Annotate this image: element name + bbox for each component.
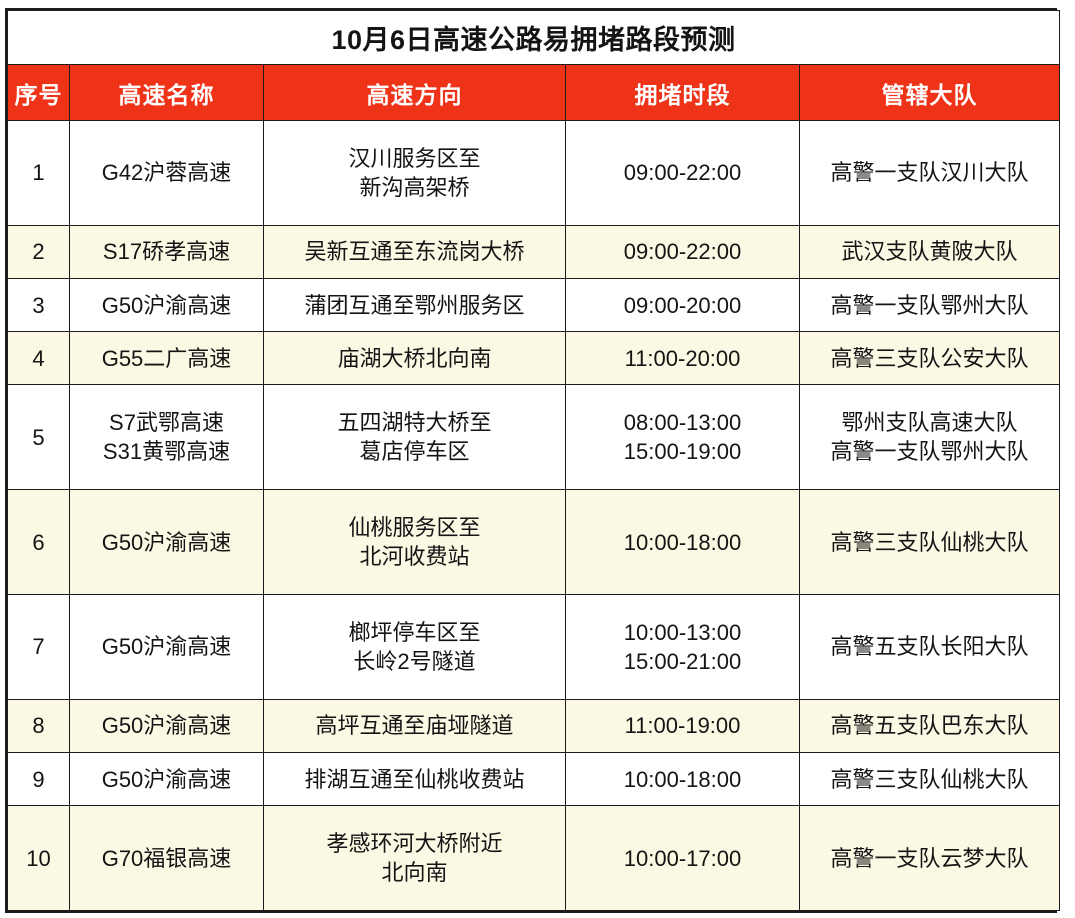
cell-index: 9 (8, 752, 70, 805)
cell-direction-lines: 仙桃服务区至北河收费站 (266, 513, 563, 571)
cell-congestion-period: 10:00-18:00 (566, 490, 800, 595)
cell-congestion-period-lines: 09:00-22:00 (568, 237, 797, 266)
cell-jurisdiction: 高警三支队公安大队 (800, 332, 1060, 385)
cell-congestion-period: 10:00-18:00 (566, 752, 800, 805)
cell-jurisdiction: 高警一支队汉川大队 (800, 121, 1060, 226)
cell-direction-lines: 五四湖特大桥至葛店停车区 (266, 408, 563, 466)
cell-highway-name-lines: S17硚孝高速 (72, 237, 261, 266)
cell-congestion-period-lines: 10:00-13:0015:00-21:00 (568, 618, 797, 676)
cell-highway-name-line: G50沪渝高速 (72, 765, 261, 794)
cell-jurisdiction-lines: 高警三支队仙桃大队 (802, 528, 1057, 557)
table-row: 1G42沪蓉高速汉川服务区至新沟高架桥09:00-22:00高警一支队汉川大队 (8, 121, 1060, 226)
table-header-row: 序号 高速名称 高速方向 拥堵时段 管辖大队 (8, 65, 1060, 121)
column-header-highway-name: 高速名称 (70, 65, 264, 121)
cell-index: 6 (8, 490, 70, 595)
cell-congestion-period-line: 10:00-17:00 (568, 844, 797, 873)
cell-highway-name: G55二广高速 (70, 332, 264, 385)
cell-index: 2 (8, 225, 70, 278)
cell-direction: 五四湖特大桥至葛店停车区 (264, 385, 566, 490)
cell-direction-line: 排湖互通至仙桃收费站 (266, 765, 563, 794)
cell-direction-line: 吴新互通至东流岗大桥 (266, 237, 563, 266)
table-row: 2S17硚孝高速吴新互通至东流岗大桥09:00-22:00武汉支队黄陂大队 (8, 225, 1060, 278)
cell-highway-name-lines: G42沪蓉高速 (72, 158, 261, 187)
cell-jurisdiction-line: 高警三支队公安大队 (802, 344, 1057, 373)
cell-highway-name-line: G70福银高速 (72, 844, 261, 873)
cell-index: 8 (8, 699, 70, 752)
cell-congestion-period-line: 08:00-13:00 (568, 408, 797, 437)
cell-jurisdiction-lines: 高警一支队鄂州大队 (802, 291, 1057, 320)
table-row: 8G50沪渝高速高坪互通至庙垭隧道11:00-19:00高警五支队巴东大队 (8, 699, 1060, 752)
cell-congestion-period-line: 10:00-13:00 (568, 618, 797, 647)
cell-jurisdiction-lines: 武汉支队黄陂大队 (802, 237, 1057, 266)
cell-highway-name-lines: G50沪渝高速 (72, 291, 261, 320)
cell-direction: 吴新互通至东流岗大桥 (264, 225, 566, 278)
cell-highway-name: G50沪渝高速 (70, 490, 264, 595)
cell-direction-line: 葛店停车区 (266, 437, 563, 466)
cell-highway-name-lines: G50沪渝高速 (72, 765, 261, 794)
cell-congestion-period-lines: 09:00-22:00 (568, 158, 797, 187)
table-row: 9G50沪渝高速排湖互通至仙桃收费站10:00-18:00高警三支队仙桃大队 (8, 752, 1060, 805)
cell-jurisdiction-lines: 高警三支队仙桃大队 (802, 765, 1057, 794)
cell-highway-name-line: G50沪渝高速 (72, 632, 261, 661)
cell-jurisdiction-lines: 鄂州支队高速大队高警一支队鄂州大队 (802, 408, 1057, 466)
cell-congestion-period: 10:00-17:00 (566, 806, 800, 911)
table-row: 4G55二广高速庙湖大桥北向南11:00-20:00高警三支队公安大队 (8, 332, 1060, 385)
cell-jurisdiction-line: 高警一支队汉川大队 (802, 158, 1057, 187)
cell-highway-name-lines: G50沪渝高速 (72, 711, 261, 740)
cell-direction: 庙湖大桥北向南 (264, 332, 566, 385)
cell-jurisdiction: 高警五支队长阳大队 (800, 594, 1060, 699)
cell-jurisdiction: 高警三支队仙桃大队 (800, 752, 1060, 805)
cell-highway-name-line: S31黄鄂高速 (72, 437, 261, 466)
congestion-forecast-table: 10月6日高速公路易拥堵路段预测 序号 高速名称 高速方向 拥堵时段 管辖大队 … (7, 10, 1060, 911)
cell-jurisdiction: 高警五支队巴东大队 (800, 699, 1060, 752)
cell-jurisdiction-lines: 高警五支队长阳大队 (802, 632, 1057, 661)
cell-congestion-period: 09:00-22:00 (566, 225, 800, 278)
cell-direction: 高坪互通至庙垭隧道 (264, 699, 566, 752)
cell-direction-lines: 汉川服务区至新沟高架桥 (266, 144, 563, 202)
cell-direction-lines: 高坪互通至庙垭隧道 (266, 711, 563, 740)
cell-jurisdiction-line: 高警五支队长阳大队 (802, 632, 1057, 661)
table-row: 6G50沪渝高速仙桃服务区至北河收费站10:00-18:00高警三支队仙桃大队 (8, 490, 1060, 595)
cell-jurisdiction-lines: 高警一支队云梦大队 (802, 844, 1057, 873)
table-row: 10G70福银高速孝感环河大桥附近北向南10:00-17:00高警一支队云梦大队 (8, 806, 1060, 911)
cell-highway-name: G70福银高速 (70, 806, 264, 911)
cell-index: 3 (8, 278, 70, 331)
cell-direction-lines: 吴新互通至东流岗大桥 (266, 237, 563, 266)
cell-direction-line: 长岭2号隧道 (266, 647, 563, 676)
cell-index: 1 (8, 121, 70, 226)
cell-jurisdiction: 武汉支队黄陂大队 (800, 225, 1060, 278)
cell-jurisdiction-line: 高警五支队巴东大队 (802, 711, 1057, 740)
title-row: 10月6日高速公路易拥堵路段预测 (8, 11, 1060, 65)
cell-direction: 汉川服务区至新沟高架桥 (264, 121, 566, 226)
cell-direction-line: 北河收费站 (266, 542, 563, 571)
cell-highway-name: G50沪渝高速 (70, 594, 264, 699)
cell-direction: 排湖互通至仙桃收费站 (264, 752, 566, 805)
cell-congestion-period-lines: 11:00-20:00 (568, 344, 797, 373)
cell-highway-name-line: G50沪渝高速 (72, 528, 261, 557)
cell-direction-line: 五四湖特大桥至 (266, 408, 563, 437)
cell-highway-name-line: S17硚孝高速 (72, 237, 261, 266)
cell-direction: 仙桃服务区至北河收费站 (264, 490, 566, 595)
cell-direction-line: 北向南 (266, 858, 563, 887)
screenshot-root: 10月6日高速公路易拥堵路段预测 序号 高速名称 高速方向 拥堵时段 管辖大队 … (0, 0, 1075, 918)
cell-direction-line: 庙湖大桥北向南 (266, 344, 563, 373)
cell-direction: 榔坪停车区至长岭2号隧道 (264, 594, 566, 699)
cell-highway-name-line: G42沪蓉高速 (72, 158, 261, 187)
column-header-direction: 高速方向 (264, 65, 566, 121)
cell-index: 4 (8, 332, 70, 385)
cell-jurisdiction-line: 高警一支队鄂州大队 (802, 291, 1057, 320)
column-header-jurisdiction: 管辖大队 (800, 65, 1060, 121)
cell-congestion-period: 09:00-22:00 (566, 121, 800, 226)
cell-jurisdiction-line: 高警一支队云梦大队 (802, 844, 1057, 873)
cell-congestion-period-line: 15:00-19:00 (568, 437, 797, 466)
cell-congestion-period: 11:00-19:00 (566, 699, 800, 752)
cell-jurisdiction-line: 高警一支队鄂州大队 (802, 437, 1057, 466)
cell-direction-line: 高坪互通至庙垭隧道 (266, 711, 563, 740)
cell-direction-line: 蒲团互通至鄂州服务区 (266, 291, 563, 320)
cell-congestion-period-lines: 11:00-19:00 (568, 711, 797, 740)
cell-jurisdiction-lines: 高警一支队汉川大队 (802, 158, 1057, 187)
cell-highway-name-line: S7武鄂高速 (72, 408, 261, 437)
cell-jurisdiction: 鄂州支队高速大队高警一支队鄂州大队 (800, 385, 1060, 490)
cell-congestion-period-lines: 10:00-17:00 (568, 844, 797, 873)
cell-direction-lines: 榔坪停车区至长岭2号隧道 (266, 618, 563, 676)
table-row: 5S7武鄂高速S31黄鄂高速五四湖特大桥至葛店停车区08:00-13:0015:… (8, 385, 1060, 490)
cell-jurisdiction-line: 武汉支队黄陂大队 (802, 237, 1057, 266)
cell-congestion-period-line: 10:00-18:00 (568, 765, 797, 794)
cell-congestion-period-line: 09:00-20:00 (568, 291, 797, 320)
cell-congestion-period: 09:00-20:00 (566, 278, 800, 331)
cell-index: 10 (8, 806, 70, 911)
cell-jurisdiction: 高警一支队云梦大队 (800, 806, 1060, 911)
cell-congestion-period-lines: 09:00-20:00 (568, 291, 797, 320)
cell-index: 7 (8, 594, 70, 699)
cell-jurisdiction-lines: 高警三支队公安大队 (802, 344, 1057, 373)
cell-highway-name: G50沪渝高速 (70, 752, 264, 805)
cell-jurisdiction-line: 高警三支队仙桃大队 (802, 528, 1057, 557)
cell-congestion-period-line: 11:00-20:00 (568, 344, 797, 373)
column-header-index: 序号 (8, 65, 70, 121)
cell-highway-name: S7武鄂高速S31黄鄂高速 (70, 385, 264, 490)
congestion-forecast-table-container: 10月6日高速公路易拥堵路段预测 序号 高速名称 高速方向 拥堵时段 管辖大队 … (5, 8, 1057, 913)
cell-congestion-period-line: 09:00-22:00 (568, 158, 797, 187)
cell-highway-name-line: G50沪渝高速 (72, 291, 261, 320)
cell-jurisdiction-line: 高警三支队仙桃大队 (802, 765, 1057, 794)
cell-direction-lines: 蒲团互通至鄂州服务区 (266, 291, 563, 320)
page-title: 10月6日高速公路易拥堵路段预测 (8, 11, 1060, 65)
cell-congestion-period: 10:00-13:0015:00-21:00 (566, 594, 800, 699)
cell-direction-lines: 庙湖大桥北向南 (266, 344, 563, 373)
cell-highway-name-lines: G70福银高速 (72, 844, 261, 873)
table-row: 3G50沪渝高速蒲团互通至鄂州服务区09:00-20:00高警一支队鄂州大队 (8, 278, 1060, 331)
cell-direction-lines: 排湖互通至仙桃收费站 (266, 765, 563, 794)
cell-congestion-period-lines: 10:00-18:00 (568, 528, 797, 557)
cell-direction: 蒲团互通至鄂州服务区 (264, 278, 566, 331)
cell-highway-name-lines: G55二广高速 (72, 344, 261, 373)
cell-highway-name: G50沪渝高速 (70, 699, 264, 752)
cell-jurisdiction-lines: 高警五支队巴东大队 (802, 711, 1057, 740)
cell-jurisdiction-line: 鄂州支队高速大队 (802, 408, 1057, 437)
cell-congestion-period-line: 15:00-21:00 (568, 647, 797, 676)
cell-congestion-period-lines: 10:00-18:00 (568, 765, 797, 794)
cell-direction-line: 新沟高架桥 (266, 173, 563, 202)
cell-index: 5 (8, 385, 70, 490)
cell-jurisdiction: 高警三支队仙桃大队 (800, 490, 1060, 595)
cell-highway-name-lines: S7武鄂高速S31黄鄂高速 (72, 408, 261, 466)
cell-direction-line: 榔坪停车区至 (266, 618, 563, 647)
cell-highway-name-line: G55二广高速 (72, 344, 261, 373)
cell-highway-name-lines: G50沪渝高速 (72, 528, 261, 557)
cell-congestion-period-lines: 08:00-13:0015:00-19:00 (568, 408, 797, 466)
cell-highway-name: G50沪渝高速 (70, 278, 264, 331)
cell-direction-line: 仙桃服务区至 (266, 513, 563, 542)
cell-direction-lines: 孝感环河大桥附近北向南 (266, 829, 563, 887)
cell-direction: 孝感环河大桥附近北向南 (264, 806, 566, 911)
cell-congestion-period-line: 11:00-19:00 (568, 711, 797, 740)
cell-highway-name: G42沪蓉高速 (70, 121, 264, 226)
cell-congestion-period-line: 10:00-18:00 (568, 528, 797, 557)
cell-congestion-period: 08:00-13:0015:00-19:00 (566, 385, 800, 490)
cell-direction-line: 汉川服务区至 (266, 144, 563, 173)
cell-highway-name-lines: G50沪渝高速 (72, 632, 261, 661)
cell-congestion-period: 11:00-20:00 (566, 332, 800, 385)
cell-highway-name: S17硚孝高速 (70, 225, 264, 278)
cell-direction-line: 孝感环河大桥附近 (266, 829, 563, 858)
table-row: 7G50沪渝高速榔坪停车区至长岭2号隧道10:00-13:0015:00-21:… (8, 594, 1060, 699)
cell-jurisdiction: 高警一支队鄂州大队 (800, 278, 1060, 331)
cell-highway-name-line: G50沪渝高速 (72, 711, 261, 740)
column-header-period: 拥堵时段 (566, 65, 800, 121)
cell-congestion-period-line: 09:00-22:00 (568, 237, 797, 266)
